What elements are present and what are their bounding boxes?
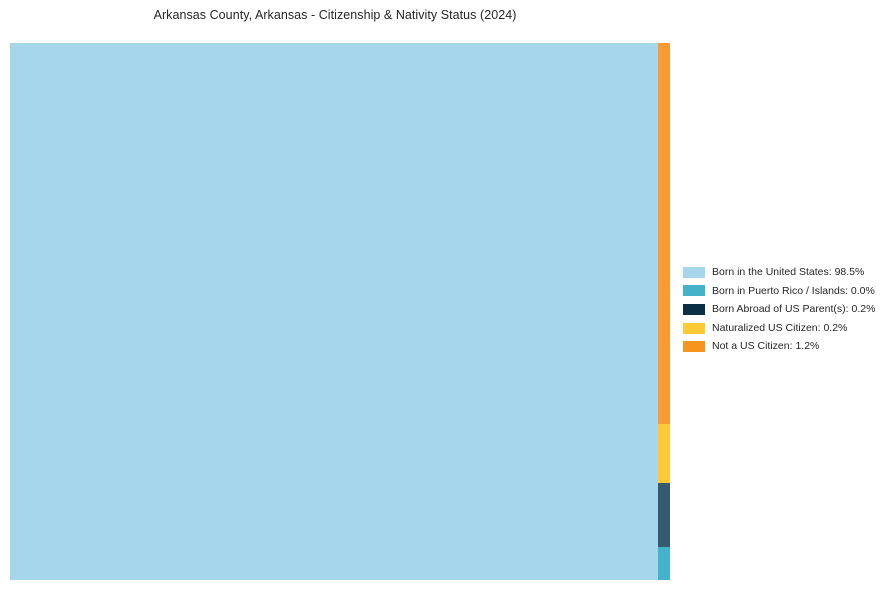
- legend-item-label: Born Abroad of US Parent(s): 0.2%: [712, 304, 875, 315]
- treemap-tile[interactable]: Born in the United States: [10, 43, 658, 580]
- legend-color-swatch: [683, 341, 705, 352]
- figure-canvas: Arkansas County, Arkansas - Citizenship …: [0, 0, 889, 590]
- treemap-tile[interactable]: Born Abroad of US Parent(s): [658, 483, 670, 547]
- chart-legend: Born in the United States: 98.5%Born in …: [683, 263, 883, 356]
- legend-item-label: Born in Puerto Rico / Islands: 0.0%: [712, 286, 875, 297]
- legend-item-label: Born in the United States: 98.5%: [712, 267, 864, 278]
- legend-color-swatch: [683, 304, 705, 315]
- legend-item[interactable]: Born Abroad of US Parent(s): 0.2%: [683, 300, 883, 319]
- chart-title: Arkansas County, Arkansas - Citizenship …: [0, 8, 670, 22]
- treemap-tile[interactable]: Born in Puerto Rico / Islands: [658, 547, 670, 580]
- treemap-tile[interactable]: Naturalized US Citizen: [658, 424, 670, 483]
- legend-color-swatch: [683, 323, 705, 334]
- legend-item-label: Naturalized US Citizen: 0.2%: [712, 323, 847, 334]
- legend-item[interactable]: Naturalized US Citizen: 0.2%: [683, 319, 883, 338]
- legend-color-swatch: [683, 285, 705, 296]
- treemap-plot-area: Born in the United StatesNot a US Citize…: [10, 43, 670, 580]
- legend-item[interactable]: Not a US Citizen: 1.2%: [683, 337, 883, 356]
- legend-color-swatch: [683, 267, 705, 278]
- legend-item[interactable]: Born in the United States: 98.5%: [683, 263, 883, 282]
- legend-item[interactable]: Born in Puerto Rico / Islands: 0.0%: [683, 282, 883, 301]
- treemap-tile[interactable]: Not a US Citizen: [658, 43, 670, 424]
- legend-item-label: Not a US Citizen: 1.2%: [712, 341, 819, 352]
